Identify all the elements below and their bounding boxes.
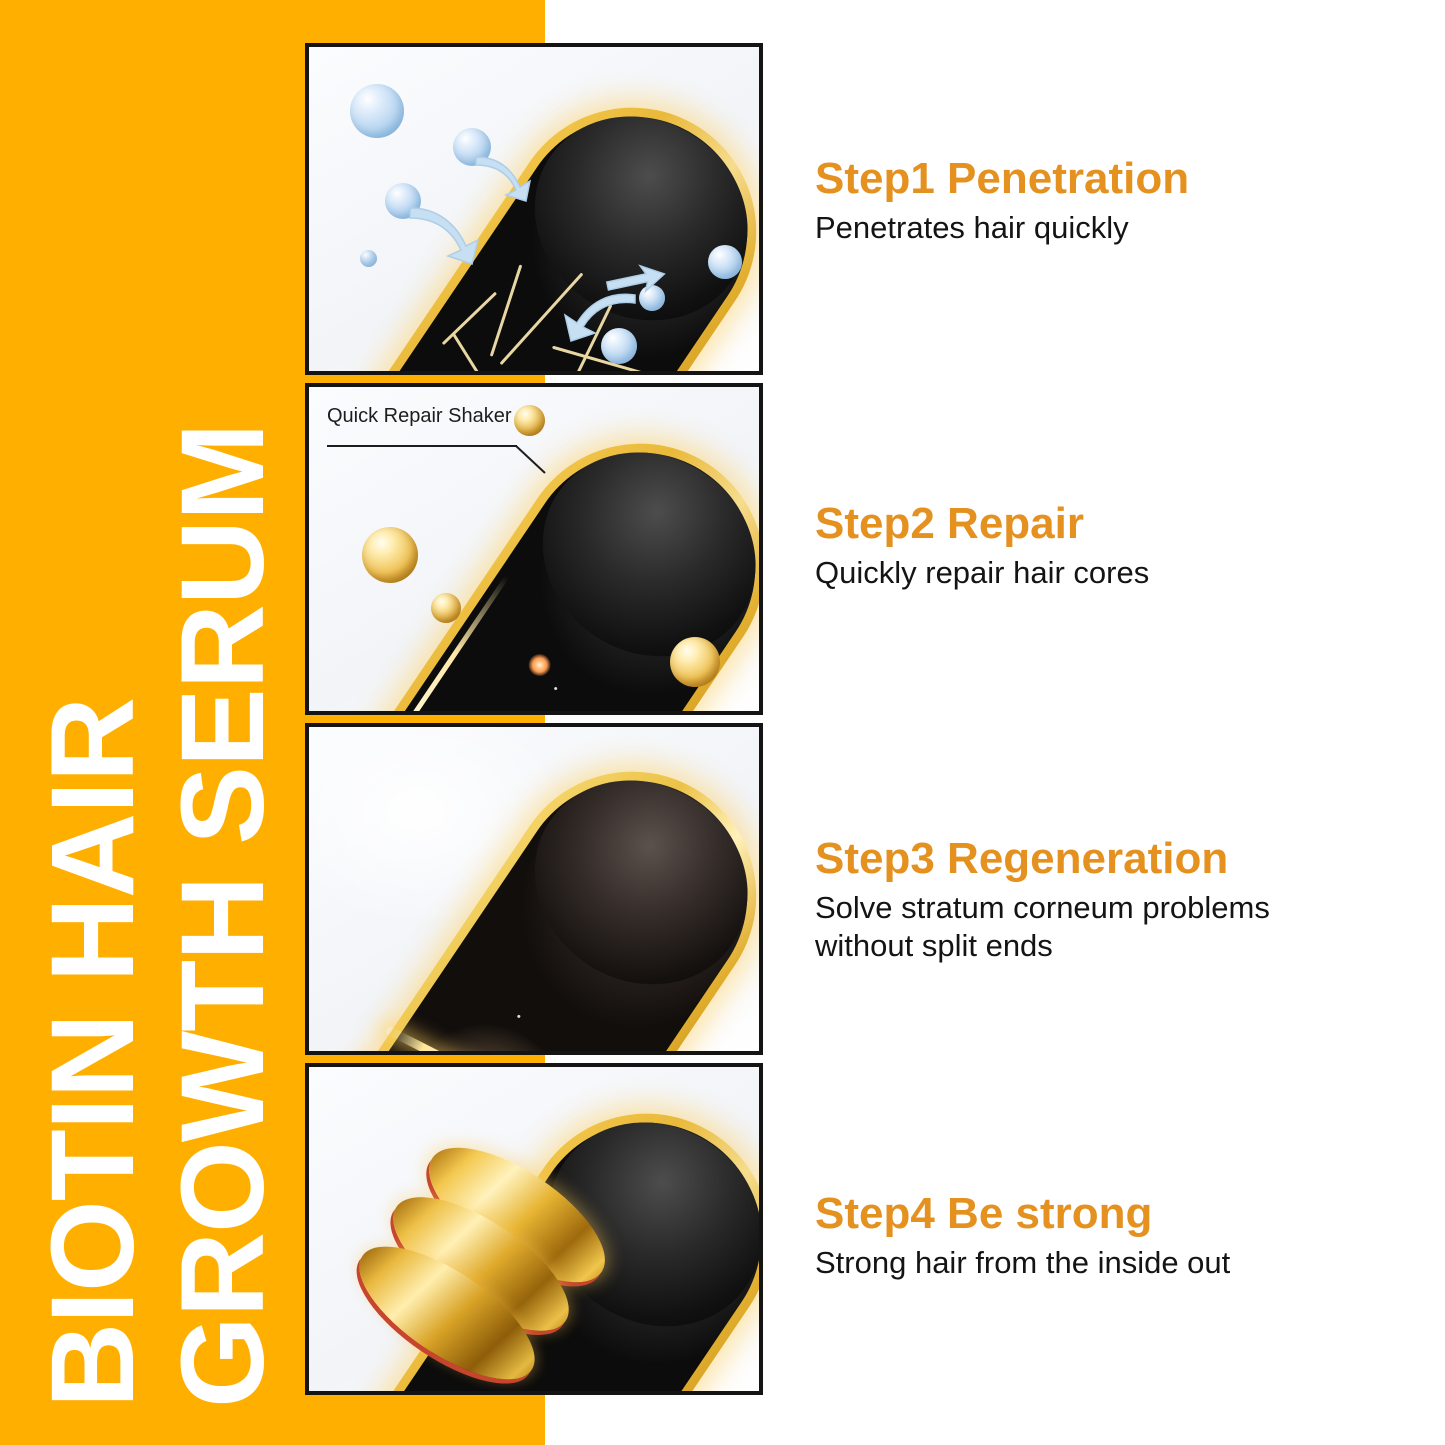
step-3-description: Solve stratum corneum problems without s… bbox=[815, 889, 1415, 966]
penetration-arrow-icon bbox=[406, 202, 490, 270]
serum-droplet-icon bbox=[670, 637, 720, 687]
callout-leader-diagonal bbox=[515, 445, 549, 482]
step-3-title: Step3 Regeneration bbox=[815, 835, 1415, 883]
water-bubble-icon bbox=[360, 250, 377, 267]
callout-leader-line bbox=[327, 445, 517, 447]
step-2-title: Step2 Repair bbox=[815, 500, 1415, 548]
water-bubble-icon bbox=[708, 245, 742, 279]
step-2-description: Quickly repair hair cores bbox=[815, 554, 1415, 592]
step-item-4: Step4 Be strong Strong hair from the ins… bbox=[815, 1190, 1415, 1282]
step-item-2: Step2 Repair Quickly repair hair cores bbox=[815, 500, 1415, 592]
steps-column: Step1 Penetration Penetrates hair quickl… bbox=[815, 0, 1415, 1445]
step-4-title: Step4 Be strong bbox=[815, 1190, 1415, 1238]
infographic-canvas: BIOTIN HAIR GROWTH SERUM bbox=[0, 0, 1445, 1445]
panel-repair: Quick Repair Shaker bbox=[305, 383, 763, 715]
step-item-3: Step3 Regeneration Solve stratum corneum… bbox=[815, 835, 1415, 965]
serum-droplet-icon bbox=[514, 405, 545, 436]
penetration-arrow-icon bbox=[472, 151, 542, 209]
step-4-description: Strong hair from the inside out bbox=[815, 1244, 1415, 1282]
step-1-description: Penetrates hair quickly bbox=[815, 209, 1415, 247]
serum-droplet-icon bbox=[362, 527, 418, 583]
title-line-biotin-hair: BIOTIN HAIR bbox=[34, 698, 152, 1408]
step-1-title: Step1 Penetration bbox=[815, 155, 1415, 203]
panel-penetration bbox=[305, 43, 763, 375]
serum-droplet-icon bbox=[431, 593, 461, 623]
water-bubble-icon bbox=[350, 84, 404, 138]
panel-regeneration bbox=[305, 723, 763, 1055]
illustration-column: Quick Repair Shaker bbox=[305, 43, 767, 1403]
callout-label-quick-repair-shaker: Quick Repair Shaker bbox=[327, 405, 512, 428]
penetration-arrow-icon bbox=[561, 285, 639, 347]
step-item-1: Step1 Penetration Penetrates hair quickl… bbox=[815, 155, 1415, 247]
title-line-growth-serum: GROWTH SERUM bbox=[164, 424, 282, 1408]
panel-be-strong bbox=[305, 1063, 763, 1395]
